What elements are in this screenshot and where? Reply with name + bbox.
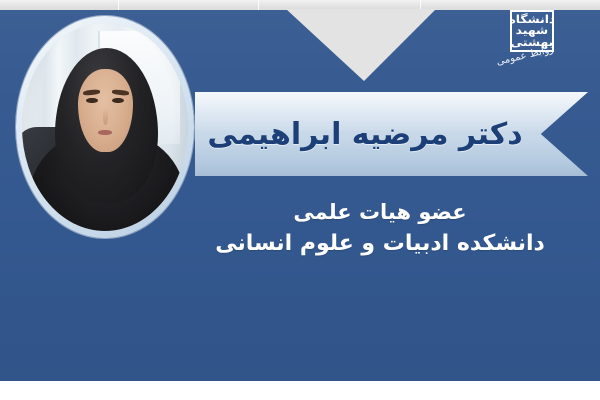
strip-seam: [258, 0, 259, 10]
subtitle-faculty: دانشکده ادبیات و علوم انسانی: [180, 228, 580, 259]
photo-vignette: [22, 23, 188, 231]
subtitle-role: عضو هیات علمی: [180, 198, 580, 228]
avatar: [22, 23, 188, 231]
subtitle-block: عضو هیات علمی دانشکده ادبیات و علوم انسا…: [180, 198, 580, 259]
strip-seam: [118, 0, 119, 10]
shahid-beheshti-university-logo: دانشگاه شهید بهشتی روابط عمومی: [499, 10, 557, 84]
logo-box-text: دانشگاه شهید بهشتی: [510, 14, 554, 48]
strip-seam: [420, 0, 421, 10]
public-relations-script: روابط عمومی: [496, 44, 560, 90]
top-strip: [0, 0, 600, 10]
portrait-frame: [16, 16, 194, 238]
faculty-profile-card: دکتر مرضیه ابراهیمی عضو هیات علمی دانشکد…: [0, 0, 600, 400]
page-title: دکتر مرضیه ابراهیمی: [195, 92, 535, 176]
